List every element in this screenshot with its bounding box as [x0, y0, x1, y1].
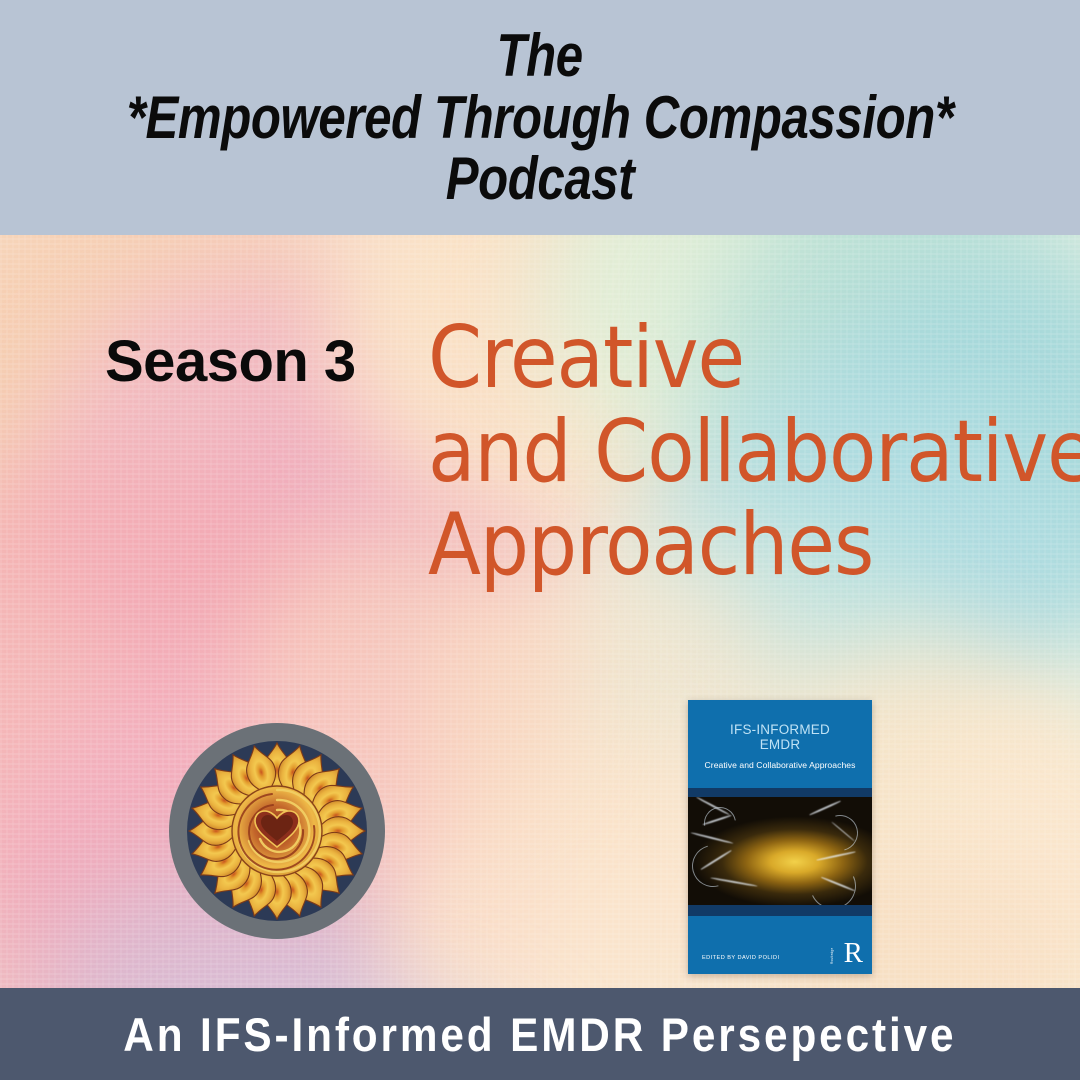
- book-title-line-1: IFS-INFORMED: [698, 722, 862, 737]
- podcast-cover-artwork: The *Empowered Through Compassion* Podca…: [0, 0, 1080, 1080]
- sun-heart-mandala-icon: [168, 710, 386, 950]
- book-cover-header: IFS-INFORMED EMDR Creative and Collabora…: [688, 700, 872, 788]
- season-label: Season 3: [105, 328, 356, 395]
- episode-title-line-2: and Collaborative: [428, 406, 1080, 500]
- footer-band: An IFS-Informed EMDR Persepective: [0, 988, 1080, 1080]
- routledge-logo-icon: Routledge R: [832, 935, 864, 967]
- tagline-text: An IFS-Informed EMDR Persepective: [123, 1007, 956, 1062]
- book-divider-top: [688, 788, 872, 797]
- routledge-r-mark: R: [844, 938, 863, 968]
- episode-title: Creative and Collaborative Approaches: [428, 312, 1080, 593]
- episode-title-line-1: Creative: [428, 312, 1080, 406]
- book-cover-image: IFS-INFORMED EMDR Creative and Collabora…: [688, 700, 872, 974]
- podcast-title-line-3: Podcast: [446, 148, 635, 210]
- episode-title-line-3: Approaches: [428, 499, 1080, 593]
- book-cover-artwork: [688, 797, 872, 905]
- book-subtitle: Creative and Collaborative Approaches: [698, 760, 862, 770]
- header-band: The *Empowered Through Compassion* Podca…: [0, 0, 1080, 235]
- book-editor-credit: EDITED BY DAVID POLIDI: [702, 955, 779, 961]
- routledge-wordmark: Routledge: [830, 948, 834, 964]
- podcast-title-line-2: *Empowered Through Compassion*: [127, 87, 954, 149]
- book-title-line-2: EMDR: [698, 737, 862, 752]
- podcast-title-line-1: The: [497, 25, 583, 87]
- book-divider-bottom: [688, 905, 872, 916]
- book-cover-footer: EDITED BY DAVID POLIDI Routledge R: [688, 916, 872, 974]
